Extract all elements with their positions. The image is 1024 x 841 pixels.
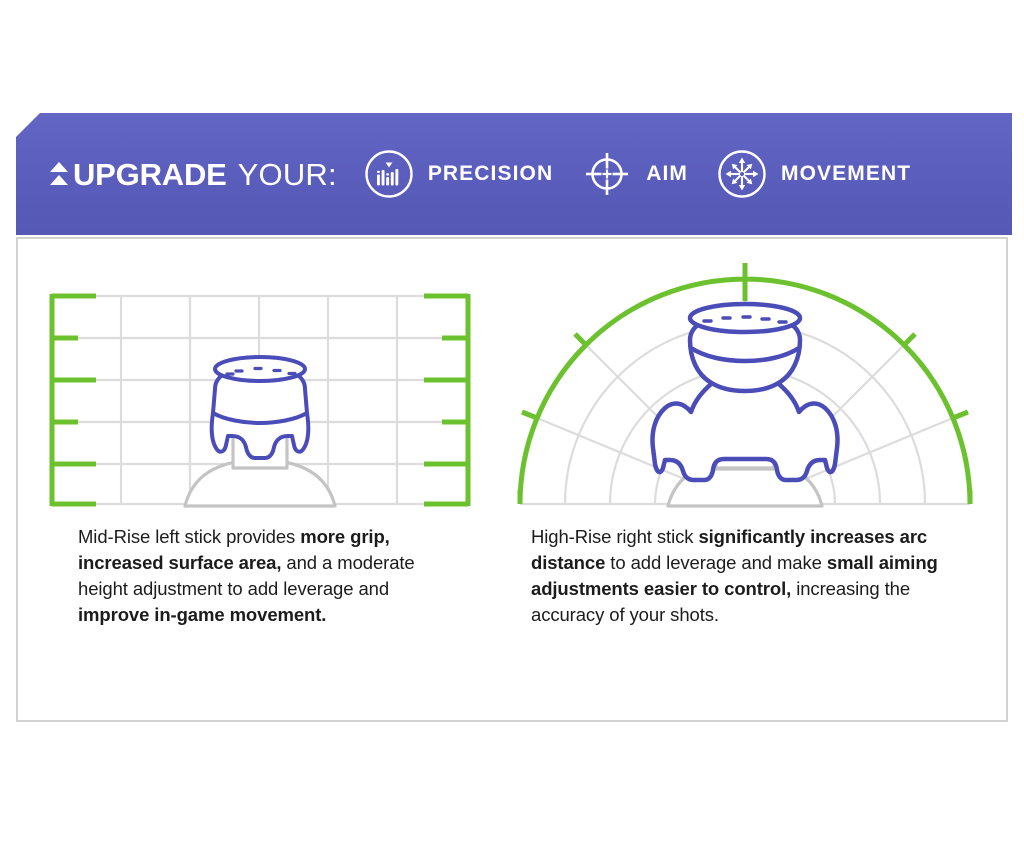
movement-arrows-icon — [716, 148, 768, 200]
banner-feature-precision: PRECISION — [363, 148, 553, 200]
double-chevron-up-icon — [50, 161, 69, 187]
banner-title-block: UPGRADE YOUR: — [50, 159, 337, 190]
banner-feature-aim: AIM — [581, 148, 688, 200]
banner-feature-movement-label: MOVEMENT — [781, 162, 911, 186]
banner-feature-precision-label: PRECISION — [428, 162, 553, 186]
caption-left: Mid-Rise left stick provides more grip, … — [78, 524, 463, 628]
mid-rise-stick-grid-diagram — [30, 268, 490, 518]
banner-feature-movement: MOVEMENT — [716, 148, 911, 200]
upgrade-banner: UPGRADE YOUR: PRECISION — [16, 113, 1012, 235]
banner-feature-list: PRECISION AIM — [363, 148, 911, 200]
high-rise-stick-arc-diagram — [505, 262, 985, 518]
caption-right: High-Rise right stick significantly incr… — [531, 524, 983, 628]
aim-crosshair-icon — [581, 148, 633, 200]
banner-upgrade-word: UPGRADE — [73, 159, 227, 190]
high-rise-stick-body — [653, 304, 838, 480]
banner-feature-aim-label: AIM — [646, 162, 688, 186]
precision-meter-icon — [363, 148, 415, 200]
banner-your-word: YOUR: — [238, 159, 337, 190]
